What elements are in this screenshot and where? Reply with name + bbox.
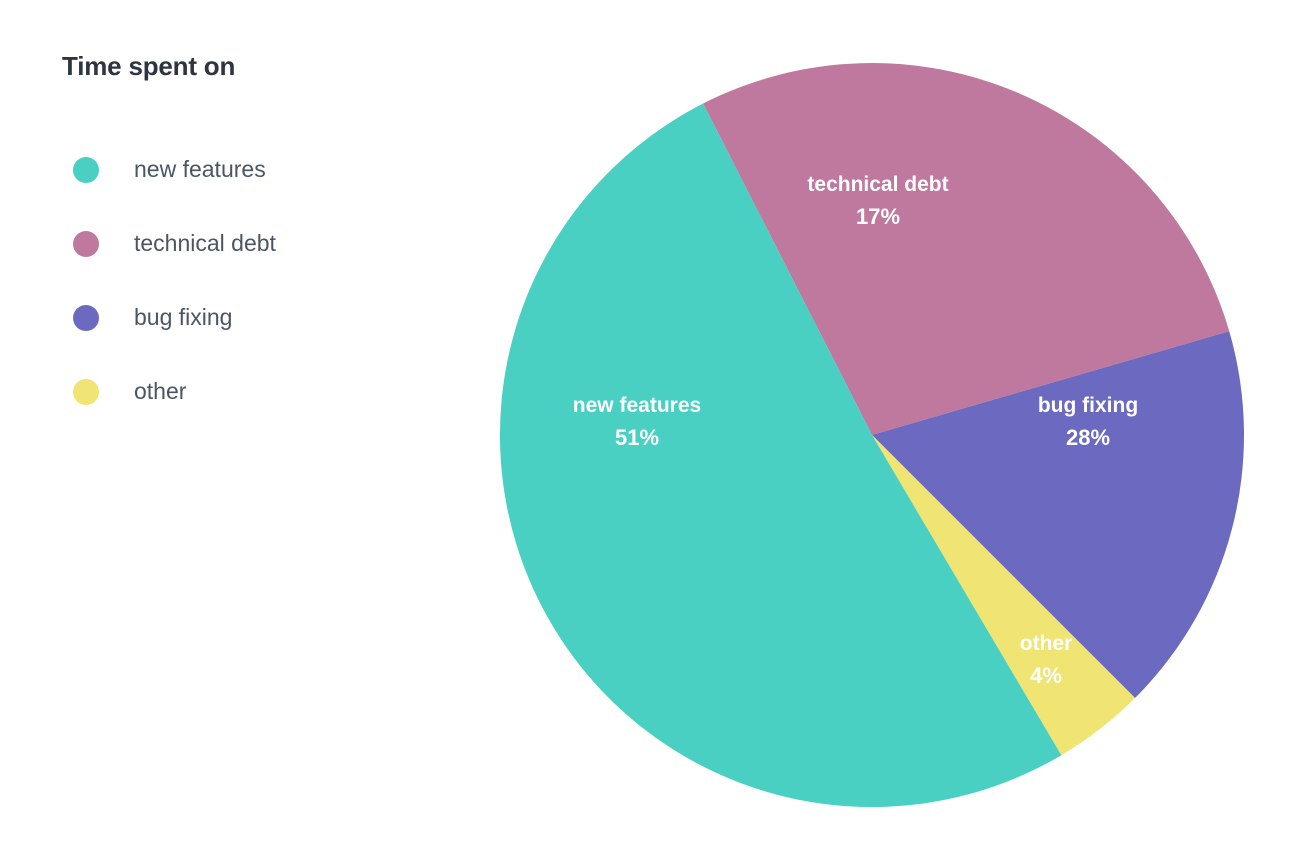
legend-item-bug-fixing[interactable]: bug fixing [62,281,442,355]
legend-item-new-features[interactable]: new features [62,133,442,207]
pie-label-other: other 4% [1020,632,1073,688]
legend-swatch-icon [73,157,99,183]
legend-swatch-icon [73,379,99,405]
pie-label-bug-fixing: bug fixing 28% [1038,394,1138,450]
pie-label-new-features: new features 51% [573,394,701,450]
pie-label-value: 4% [1030,663,1062,688]
pie-slice-new-features[interactable] [500,104,1061,807]
legend-item-technical-debt[interactable]: technical debt [62,207,442,281]
pie-label-value: 17% [856,204,900,229]
pie-label-name: technical debt [807,173,948,196]
legend-swatch-icon [73,305,99,331]
pie-label-name: other [1020,632,1073,655]
chart-legend: Time spent on new features technical deb… [62,52,442,429]
page-title: Time spent on [62,52,442,81]
pie-chart-figure: Time spent on new features technical deb… [0,0,1314,864]
pie-label-name: bug fixing [1038,394,1138,417]
legend-item-label: technical debt [134,230,276,257]
legend-item-other[interactable]: other [62,355,442,429]
pie-slice-technical-debt[interactable] [703,63,1229,435]
legend-item-list: new features technical debt bug fixing o… [62,133,442,429]
pie-slice-other[interactable] [872,435,1135,755]
pie-label-value: 51% [615,425,659,450]
legend-item-label: new features [134,156,266,183]
pie-label-value: 28% [1066,425,1110,450]
pie-label-name: new features [573,394,701,417]
legend-item-label: other [134,378,186,405]
legend-item-label: bug fixing [134,304,232,331]
pie-slice-bug-fixing[interactable] [872,331,1244,698]
pie-label-technical-debt: technical debt 17% [807,173,948,229]
legend-swatch-icon [73,231,99,257]
